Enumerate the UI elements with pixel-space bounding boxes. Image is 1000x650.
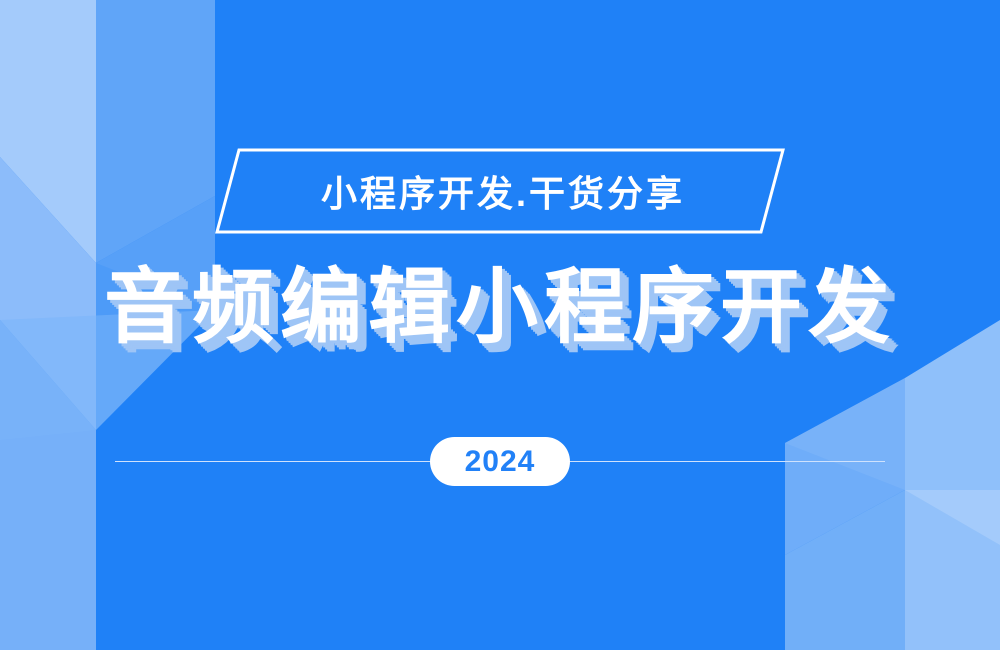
banner-subtitle: 小程序开发.干货分享 — [215, 148, 785, 234]
year-divider-left — [115, 461, 435, 462]
banner-title: 音频编辑小程序开发 — [0, 256, 1000, 360]
year-divider-right — [565, 461, 885, 462]
subtitle-frame: 小程序开发.干货分享 — [215, 148, 785, 234]
promo-banner: 小程序开发.干货分享 音频编辑小程序开发 2024 — [0, 0, 1000, 650]
year-badge: 2024 — [430, 437, 570, 486]
